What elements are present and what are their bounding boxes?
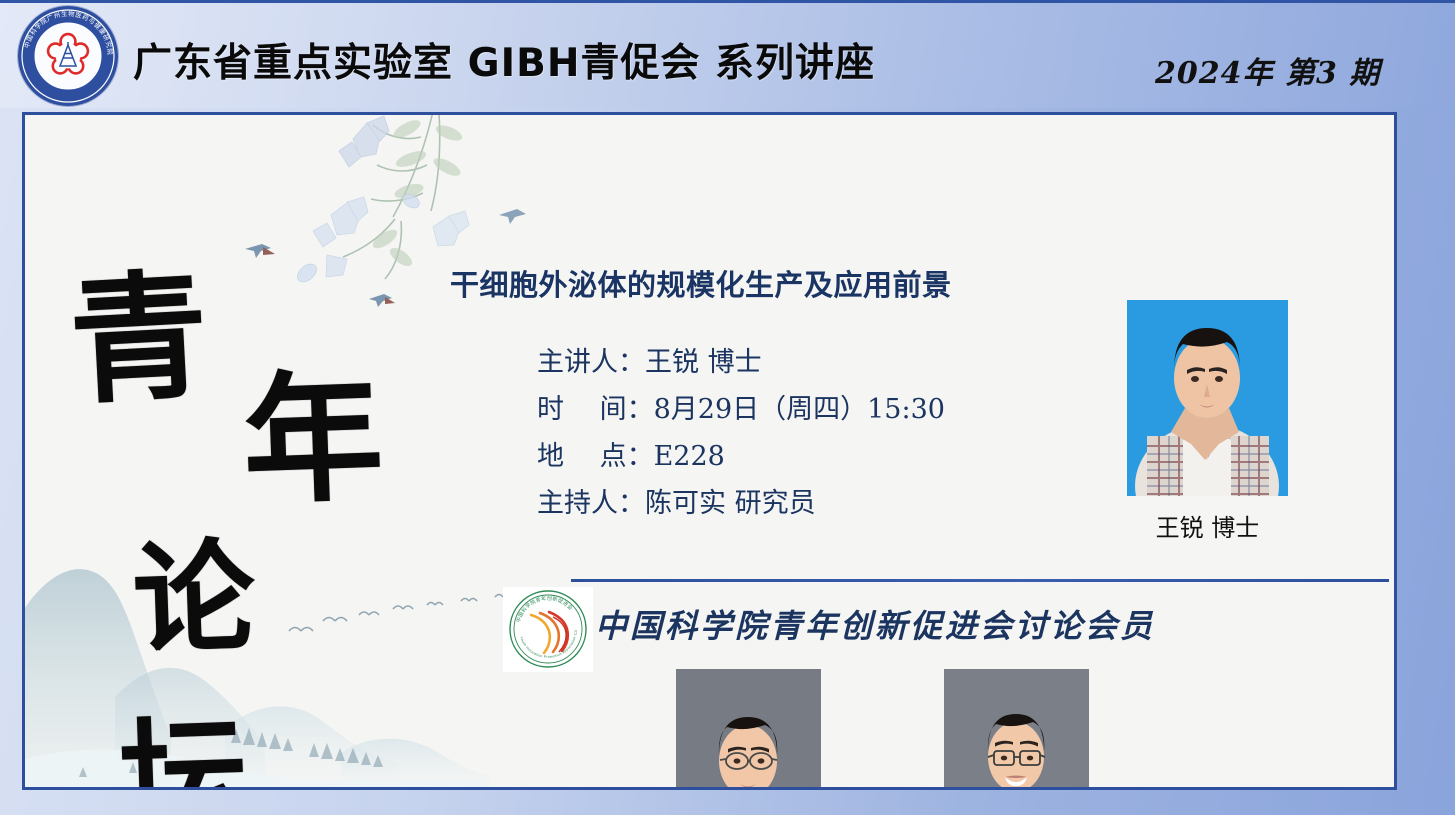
lecture-poster: 中国科学院广州生物医药与健康研究院 xyxy=(0,0,1455,815)
speaker-photo xyxy=(1127,300,1288,496)
gibh-institute-logo: 中国科学院广州生物医药与健康研究院 xyxy=(18,6,118,106)
discussion-banner: 中国科学院青年创新促进会讨论会员 xyxy=(595,601,1155,647)
info-row-time: 时 间：8月29日（周四）15:30 xyxy=(537,386,945,433)
header-top-rule xyxy=(0,0,1455,3)
issue-label: 2024年 第3 期 xyxy=(1155,48,1380,92)
watercolor-mountain-decoration xyxy=(22,547,489,790)
info-value-time: 8月29日（周四）15:30 xyxy=(654,394,945,425)
discussant-1-block: 邬毅 博士 xyxy=(676,669,821,790)
poster-body: 青 年 论 坛 干细胞外泌体的规模化生产及应用前景 主讲人：王锐 博士 时 间：… xyxy=(22,112,1397,790)
info-row-host: 主持人：陈可实 研究员 xyxy=(537,480,945,527)
lecture-title: 干细胞外泌体的规模化生产及应用前景 xyxy=(450,262,952,304)
info-label-host: 主持人： xyxy=(537,488,645,519)
section-divider xyxy=(571,579,1389,582)
info-row-speaker: 主讲人：王锐 博士 xyxy=(537,339,945,386)
calligraphy-char-lun: 论 xyxy=(131,535,257,661)
calligraphy-char-qing: 青 xyxy=(66,266,211,411)
discussant-1-photo xyxy=(676,669,821,790)
page-title: 广东省重点实验室 GIBH青促会 系列讲座 xyxy=(133,32,875,88)
info-label-speaker: 主讲人： xyxy=(537,347,645,378)
discussant-2-block: 单永礼 博士 xyxy=(944,669,1089,790)
gibh-logo-text: GIBH xyxy=(18,88,118,100)
info-value-speaker: 王锐 博士 xyxy=(645,347,762,378)
info-value-location: E228 xyxy=(654,441,725,472)
info-label-location: 地 点： xyxy=(537,441,654,472)
discussant-2-photo xyxy=(944,669,1089,790)
cas-youth-innovation-promotion-association-logo: 中国科学院青年创新促进会 Youth Innovation Promotion … xyxy=(503,587,593,672)
info-label-time: 时 间： xyxy=(537,394,654,425)
speaker-caption: 王锐 博士 xyxy=(1107,508,1308,543)
speaker-portrait-block: 王锐 博士 xyxy=(1127,300,1288,496)
lecture-info-block: 主讲人：王锐 博士 时 间：8月29日（周四）15:30 地 点：E228 主持… xyxy=(537,339,945,527)
calligraphy-char-tan: 坛 xyxy=(118,713,250,790)
poster-header: 中国科学院广州生物医药与健康研究院 xyxy=(0,0,1455,108)
info-value-host: 陈可实 研究员 xyxy=(645,488,816,519)
info-row-location: 地 点：E228 xyxy=(537,433,945,480)
calligraphy-char-nian: 年 xyxy=(241,368,386,513)
cas-logo-graphic: 中国科学院青年创新促进会 Youth Innovation Promotion … xyxy=(503,587,593,672)
